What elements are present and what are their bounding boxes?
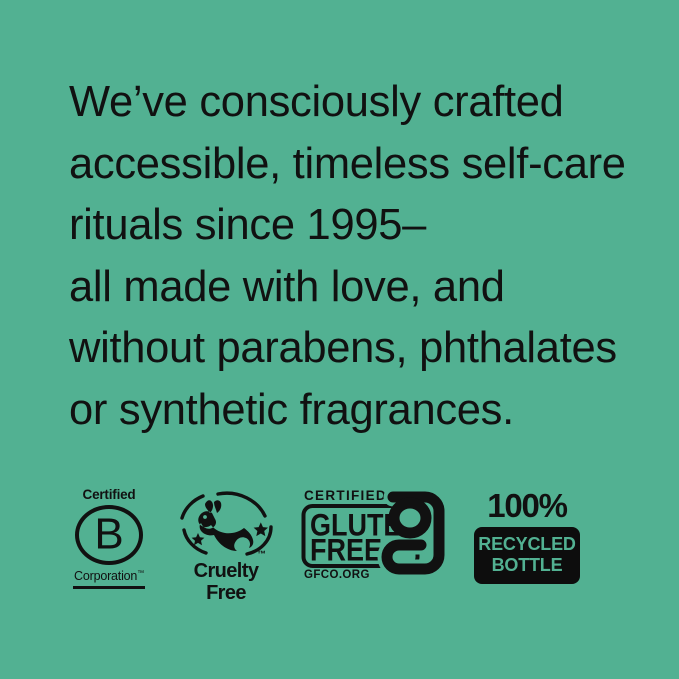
gluten-free-url-label: GFCO.ORG — [304, 569, 370, 581]
headline-line-2: accessible, timeless self-care — [69, 134, 659, 196]
cruelty-free-trademark: ™ — [257, 549, 266, 559]
gfco-gluten-free-icon: CERTIFIED GLUTEN FREE ™ GFCO.ORG — [300, 485, 445, 581]
b-corp-corporation-label: Corporation™ — [63, 569, 155, 583]
b-corp-trademark: ™ — [137, 570, 144, 577]
certification-badge-row: Certified B Corporation™ — [0, 485, 679, 595]
b-corp-letter: B — [79, 513, 139, 557]
b-corp-certified-label: Certified — [63, 487, 155, 503]
gluten-free-certified-label: CERTIFIED — [304, 488, 387, 503]
headline-line-4: all made with love, and — [69, 257, 659, 319]
brand-values-card: We’ve consciously crafted accessible, ti… — [0, 0, 679, 679]
headline-line-3: rituals since 1995– — [69, 195, 659, 257]
headline-line-5: without parabens, phthalates — [69, 318, 659, 380]
badge-gluten-free: CERTIFIED GLUTEN FREE ™ GFCO.ORG — [300, 485, 445, 593]
headline-line-6: or synthetic fragrances. — [69, 380, 659, 442]
badge-recycled-bottle: 100% RECYCLED BOTTLE — [474, 485, 580, 593]
badge-b-corporation: Certified B Corporation™ — [63, 485, 155, 593]
recycled-line-2: BOTTLE — [474, 555, 580, 576]
gluten-free-trademark: ™ — [433, 555, 442, 565]
leaping-bunny-icon: ™ — [172, 485, 280, 561]
b-corp-underline-rule — [73, 586, 145, 589]
headline-block: We’ve consciously crafted accessible, ti… — [69, 72, 659, 441]
badge-cruelty-free: ™ Cruelty Free — [172, 485, 280, 593]
headline-line-1: We’ve consciously crafted — [69, 72, 659, 134]
recycled-bottle-box: RECYCLED BOTTLE — [474, 527, 580, 584]
gluten-free-line-2: FREE — [310, 532, 382, 568]
b-corp-corporation-text: Corporation — [74, 569, 137, 583]
recycled-percent-label: 100% — [474, 488, 580, 524]
b-corp-icon: B — [75, 505, 143, 565]
cruelty-free-label: Cruelty Free — [172, 560, 280, 604]
recycled-line-1: RECYCLED — [474, 534, 580, 555]
